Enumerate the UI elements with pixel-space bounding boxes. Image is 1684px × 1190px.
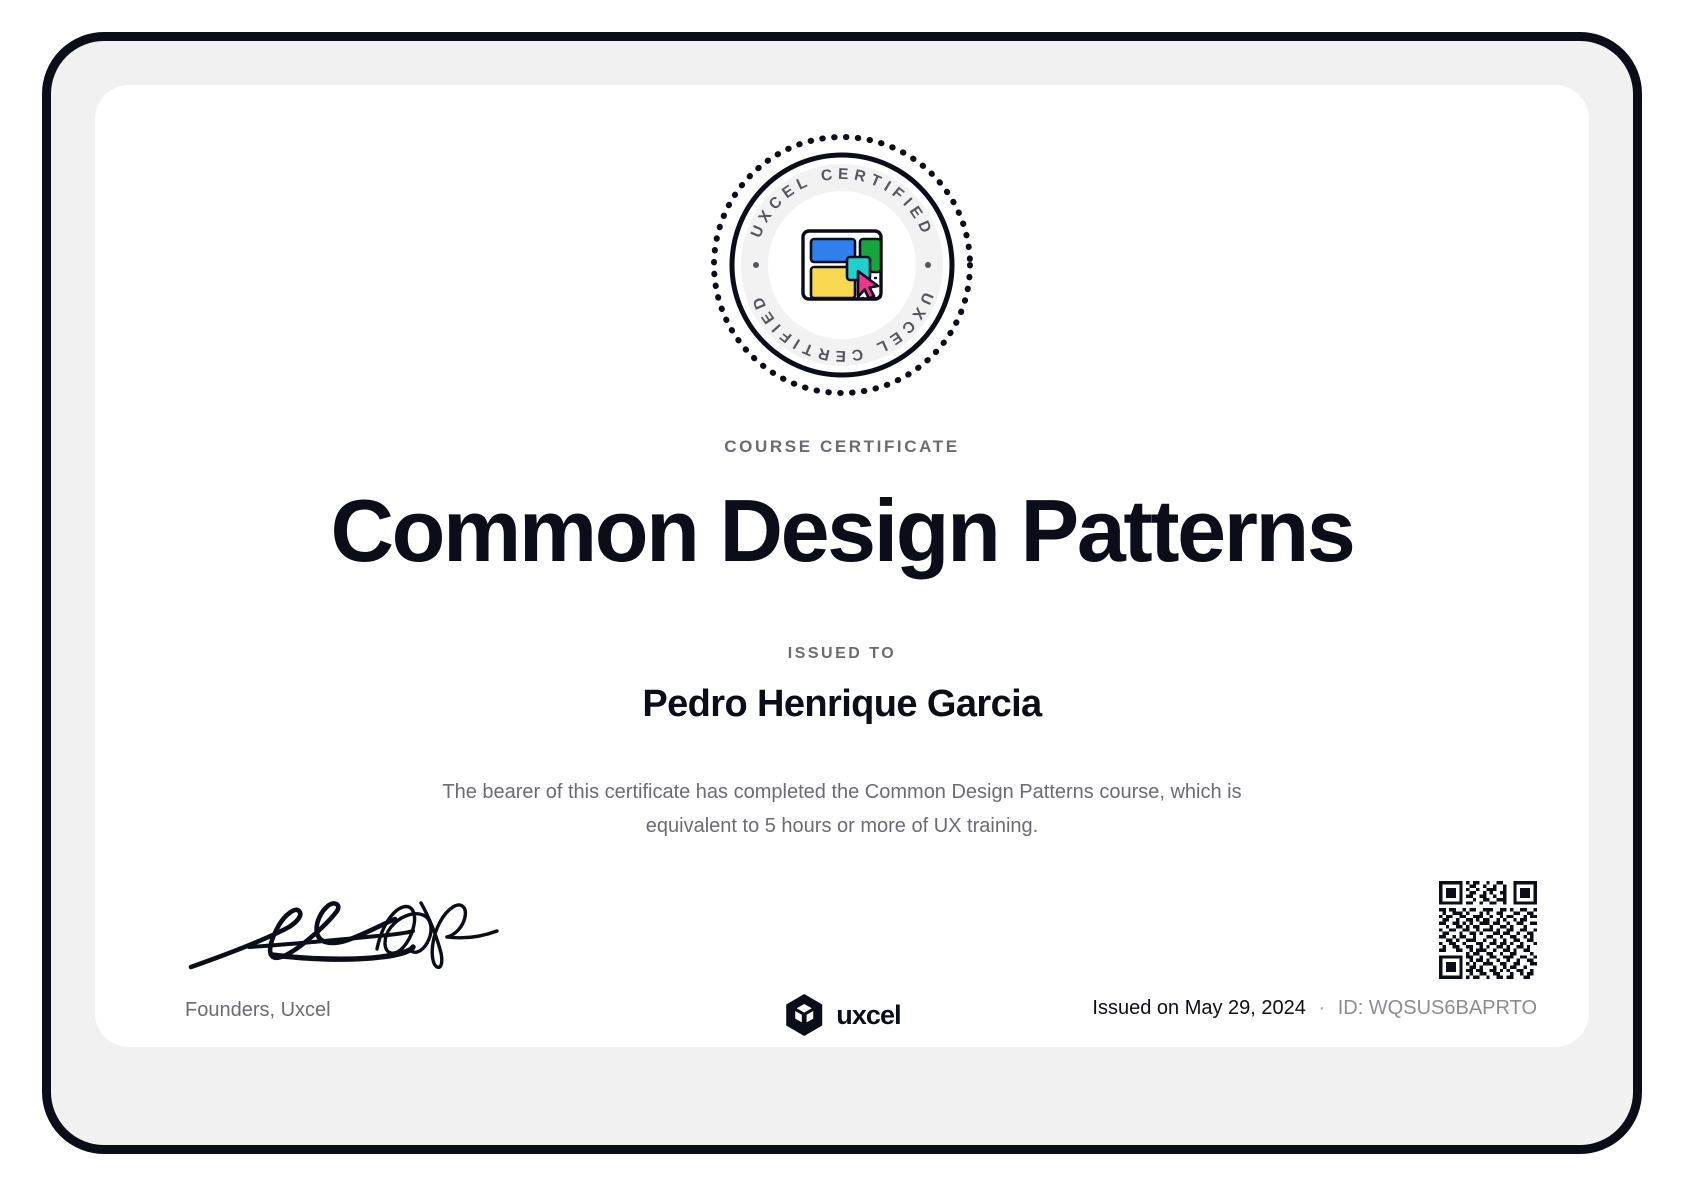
issued-to-label: ISSUED TO — [95, 645, 1589, 663]
course-title: Common Design Patterns — [95, 483, 1589, 578]
recipient-name: Pedro Henrique Garcia — [95, 683, 1589, 726]
certificate-footer: Founders, Uxcel uxcel — [95, 893, 1589, 1047]
founder-signatures — [185, 893, 515, 973]
certificate-frame: UXCEL CERTIFIED UXCEL CERTIFIED — [42, 32, 1642, 1154]
certificate-card: UXCEL CERTIFIED UXCEL CERTIFIED — [95, 85, 1589, 1047]
founders-caption: Founders, Uxcel — [185, 999, 331, 1022]
certification-seal: UXCEL CERTIFIED UXCEL CERTIFIED — [708, 131, 976, 399]
issue-date: Issued on May 29, 2024 — [1092, 997, 1305, 1019]
uxcel-hexagon-icon — [783, 993, 825, 1037]
seal-graphic: UXCEL CERTIFIED UXCEL CERTIFIED — [708, 131, 976, 399]
meta-separator: · — [1311, 997, 1332, 1019]
signature-marks — [185, 893, 515, 975]
certificate-description: The bearer of this certificate has compl… — [432, 775, 1252, 844]
uxcel-wordmark: uxcel — [836, 1000, 901, 1031]
certificate-id: ID: WQSUS6BAPRTO — [1338, 997, 1537, 1019]
certificate-type-label: COURSE CERTIFICATE — [95, 437, 1589, 457]
verification-qr-code[interactable] — [1439, 881, 1537, 979]
uxcel-logo: uxcel — [783, 993, 901, 1037]
design-patterns-layout-icon — [803, 231, 881, 299]
issue-metadata: Issued on May 29, 2024 · ID: WQSUS6BAPRT… — [1092, 997, 1537, 1020]
qr-code-graphic — [1439, 881, 1537, 979]
